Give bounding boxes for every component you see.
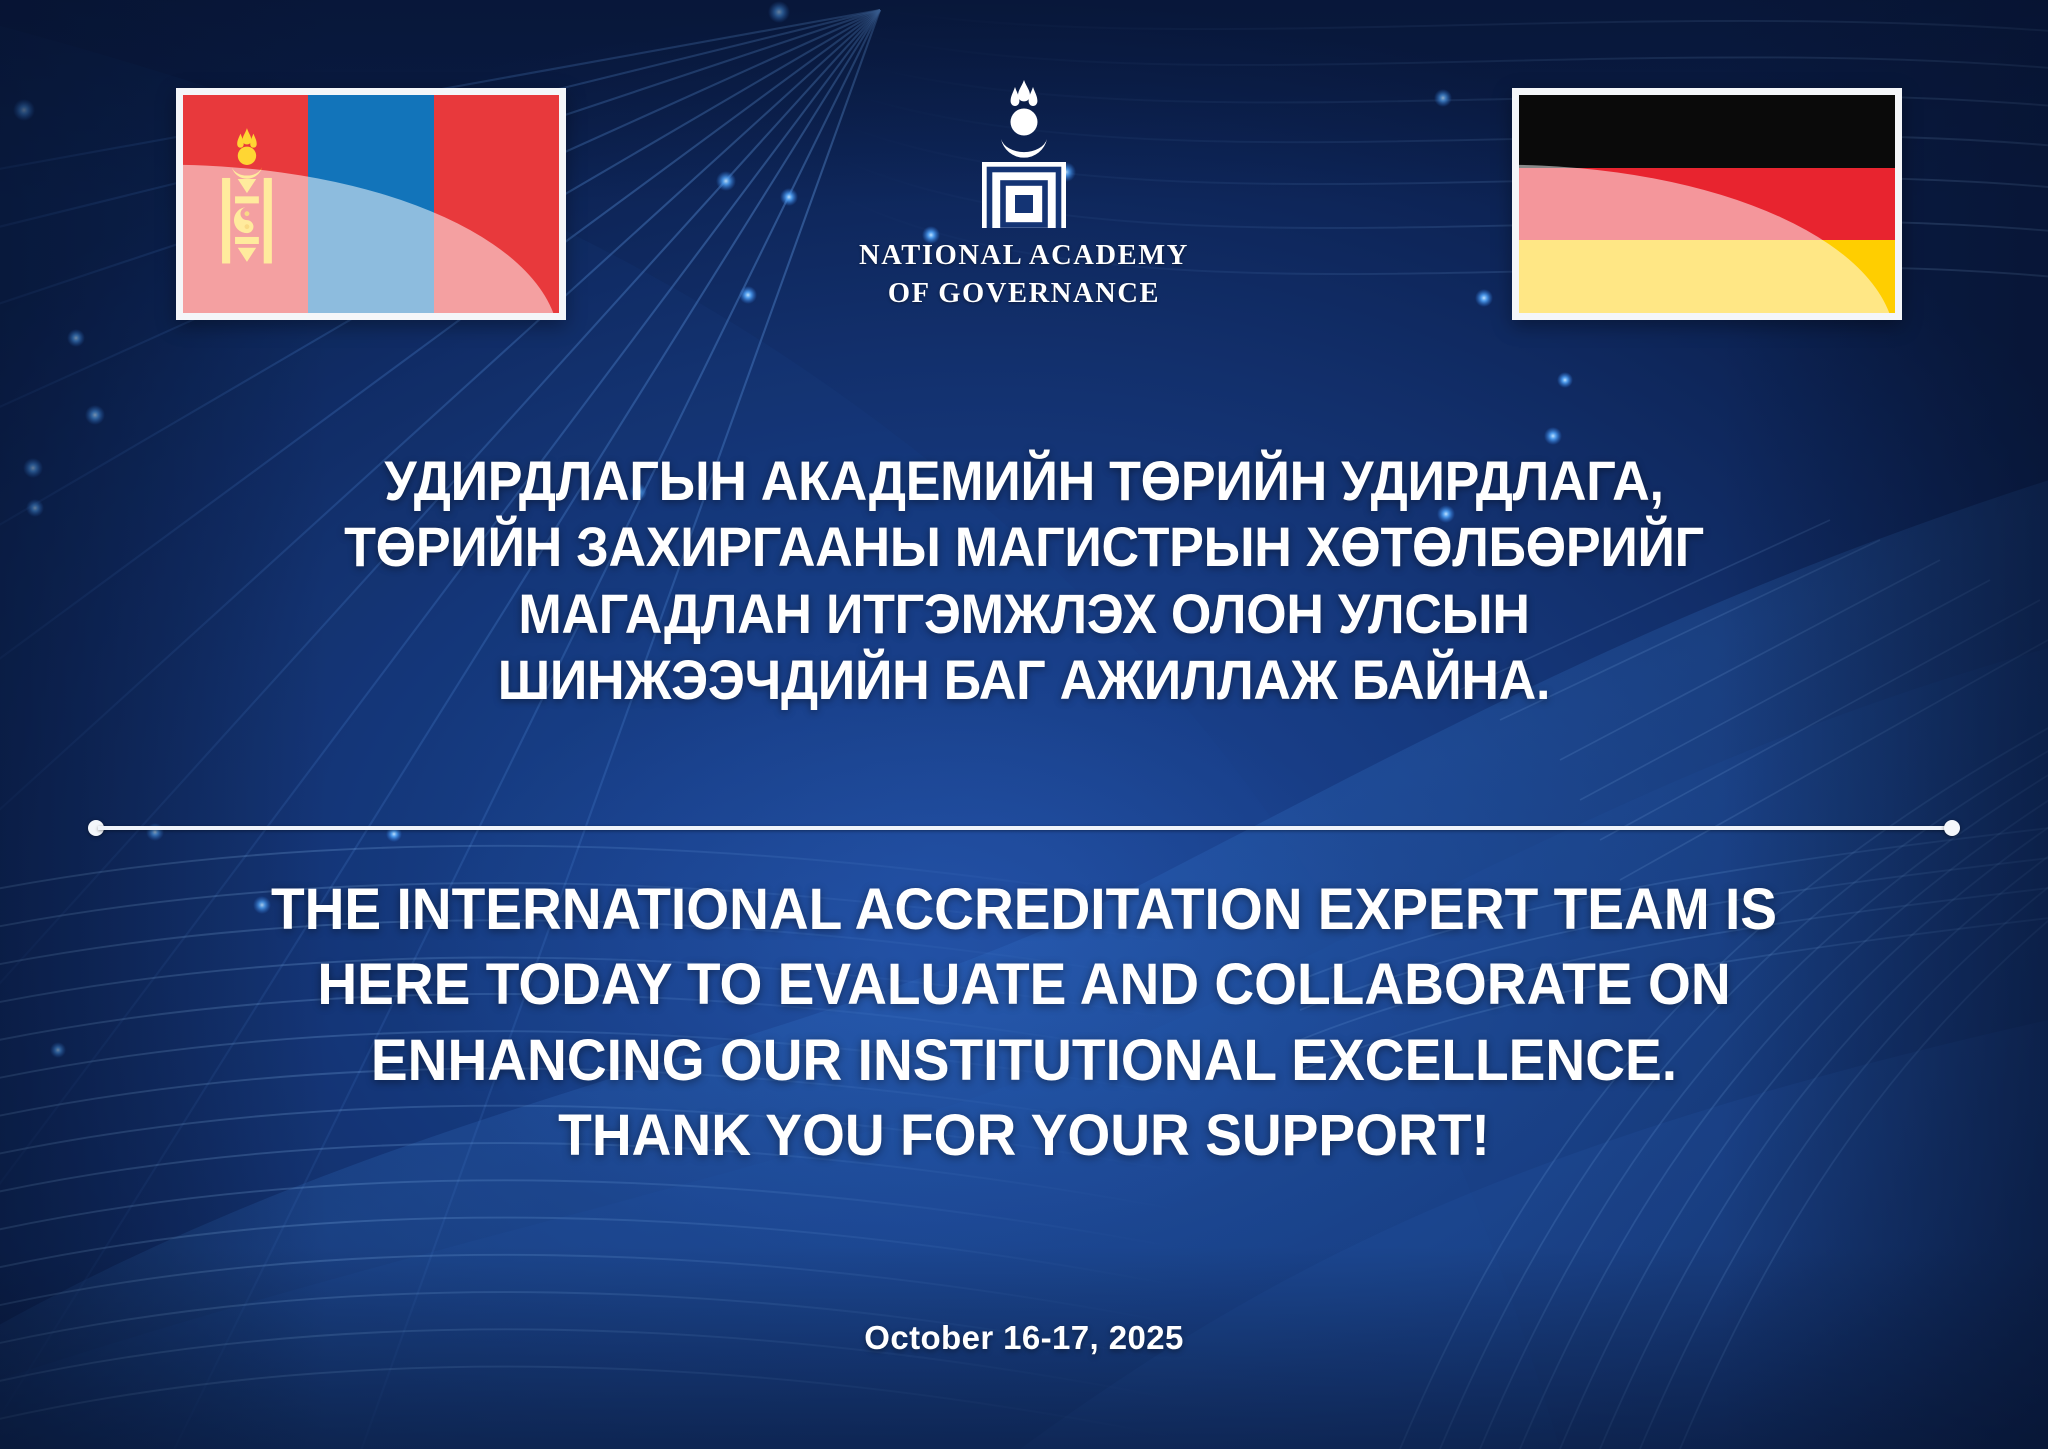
headline-en-line-1: THE INTERNATIONAL ACCREDITATION EXPERT T… — [51, 872, 1997, 947]
logo-text-line-1: NATIONAL ACADEMY — [814, 237, 1234, 275]
headline-mn-line-2: ТӨРИЙН ЗАХИРГААНЫ МАГИСТРЫН ХӨТӨЛБӨРИЙГ — [72, 514, 1977, 580]
institution-logo: NATIONAL ACADEMY OF GOVERNANCE — [814, 78, 1234, 312]
event-date: October 16-17, 2025 — [0, 1319, 2048, 1357]
headline-english: THE INTERNATIONAL ACCREDITATION EXPERT T… — [0, 872, 2048, 1174]
headline-mn-line-1: УДИРДЛАГЫН АКАДЕМИЙН ТӨРИЙН УДИРДЛАГА, — [72, 448, 1977, 514]
headline-en-line-4: THANK YOU FOR YOUR SUPPORT! — [51, 1098, 1997, 1173]
flag-germany — [1512, 88, 1902, 320]
headline-mn-line-3: МАГАДЛАН ИТГЭМЖЛЭХ ОЛОН УЛСЫН — [72, 581, 1977, 647]
national-academy-emblem-icon — [972, 78, 1076, 228]
announcement-poster: NATIONAL ACADEMY OF GOVERNANCE УДИРДЛАГЫ… — [0, 0, 2048, 1449]
headline-mn-line-4: ШИНЖЭЭЧДИЙН БАГ АЖИЛЛАЖ БАЙНА. — [72, 647, 1977, 713]
section-divider — [88, 820, 1960, 836]
flag-mongolia — [176, 88, 566, 320]
divider-rule — [98, 826, 1950, 830]
headline-en-line-3: ENHANCING OUR INSTITUTIONAL EXCELLENCE. — [51, 1023, 1997, 1098]
divider-dot-right — [1944, 820, 1960, 836]
logo-text-line-2: OF GOVERNANCE — [814, 275, 1234, 313]
band-black — [1519, 95, 1895, 168]
headline-en-line-2: HERE TODAY TO EVALUATE AND COLLABORATE O… — [51, 947, 1997, 1022]
headline-mongolian: УДИРДЛАГЫН АКАДЕМИЙН ТӨРИЙН УДИРДЛАГА, Т… — [0, 448, 2048, 713]
